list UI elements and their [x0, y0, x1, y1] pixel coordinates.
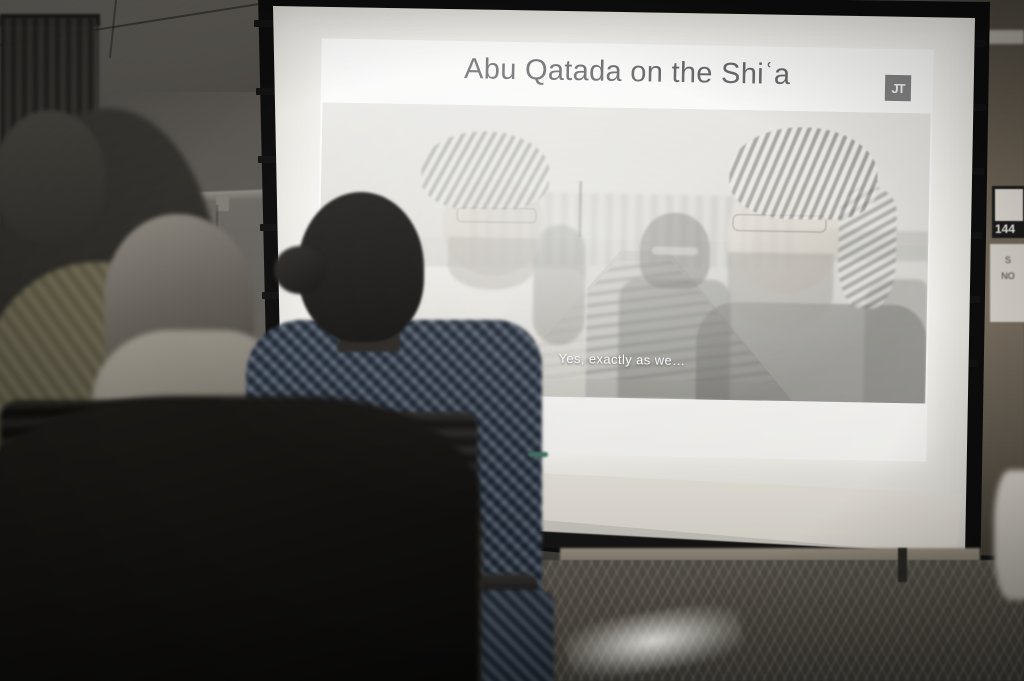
ceiling-seam-cross	[109, 0, 117, 58]
jt-logo-icon: JT	[885, 75, 911, 101]
foreground-object-right	[994, 470, 1024, 600]
screen-snap-tab	[254, 20, 276, 27]
viewer-navy-hair-bun	[274, 246, 326, 294]
pen-on-chair	[528, 452, 548, 457]
subject-speaker-headscarf	[729, 126, 879, 221]
slide-title: Abu Qatada on the Shiʿa	[321, 50, 934, 94]
foreground-dark-mass	[0, 396, 480, 681]
jt-logo-text: JT	[891, 80, 904, 95]
screenshot-canvas: 144 S NO Abu Qatada on the Shiʿa JT	[0, 0, 1024, 681]
subject-masked-eye-slit	[652, 247, 698, 256]
viewer-back-left-head	[0, 110, 106, 242]
screen-stand-leg	[898, 548, 907, 582]
